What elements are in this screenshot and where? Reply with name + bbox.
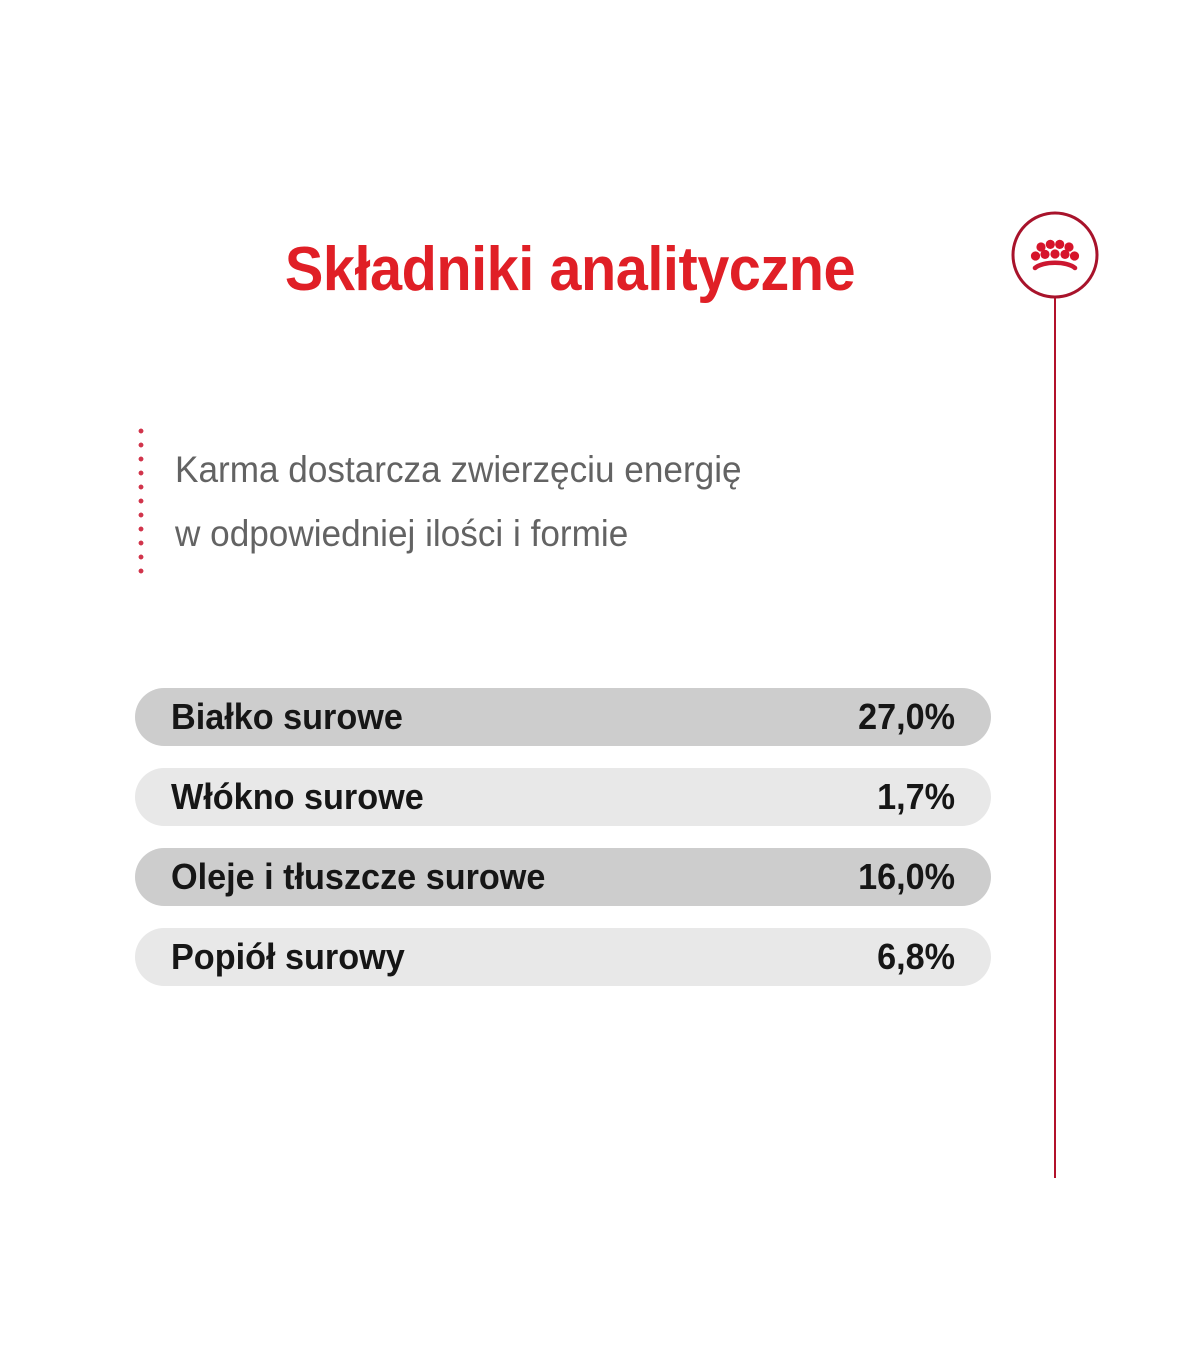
row-value: 16,0% [858,857,955,897]
row-value: 1,7% [877,777,955,817]
row-value: 27,0% [858,697,955,737]
row-label: Włókno surowe [171,777,424,817]
row-value: 6,8% [877,937,955,977]
page-title: Składniki analityczne [40,234,1100,306]
analytical-constituents-list: Białko surowe 27,0% Włókno surowe 1,7% O… [135,688,991,986]
vertical-rule [1054,298,1056,1178]
row-label: Popiół surowy [171,937,405,977]
subtitle-block: Karma dostarcza zwierzęciu energię w odp… [137,424,897,580]
table-row: Popiół surowy 6,8% [135,928,991,986]
table-row: Włókno surowe 1,7% [135,768,991,826]
row-label: Oleje i tłuszcze surowe [171,857,545,897]
table-row: Oleje i tłuszcze surowe 16,0% [135,848,991,906]
row-label: Białko surowe [171,697,403,737]
infographic-page: Składniki analityczne Karma dostarcza zw… [0,0,1200,1372]
subtitle-line-2: w odpowiedniej ilości i formie [175,502,742,566]
subtitle-text: Karma dostarcza zwierzęciu energię w odp… [175,424,742,580]
dotted-rule-icon [137,424,145,580]
subtitle-line-1: Karma dostarcza zwierzęciu energię [175,438,742,502]
table-row: Białko surowe 27,0% [135,688,991,746]
